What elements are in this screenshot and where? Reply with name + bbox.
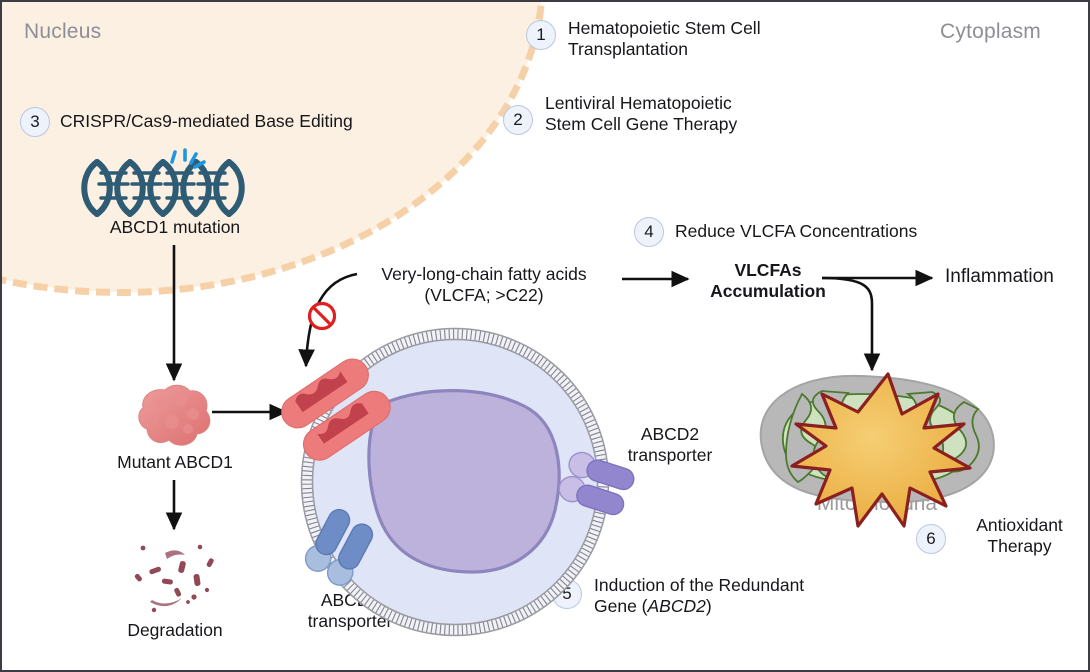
diagram-graphics-layer — [2, 2, 1090, 672]
dna-mutation-spark-icon — [172, 150, 204, 167]
mutant-protein-blob-icon — [139, 385, 210, 445]
prohibition-no-entry-icon — [310, 304, 335, 329]
dna-helix-icon — [84, 162, 242, 214]
arrow-accumulation-to-mitochondria — [822, 278, 872, 370]
figure-canvas: Nucleus Cytoplasm 1 Hematopoietic Stem C… — [0, 0, 1090, 672]
protein-debris-icon — [134, 545, 215, 613]
